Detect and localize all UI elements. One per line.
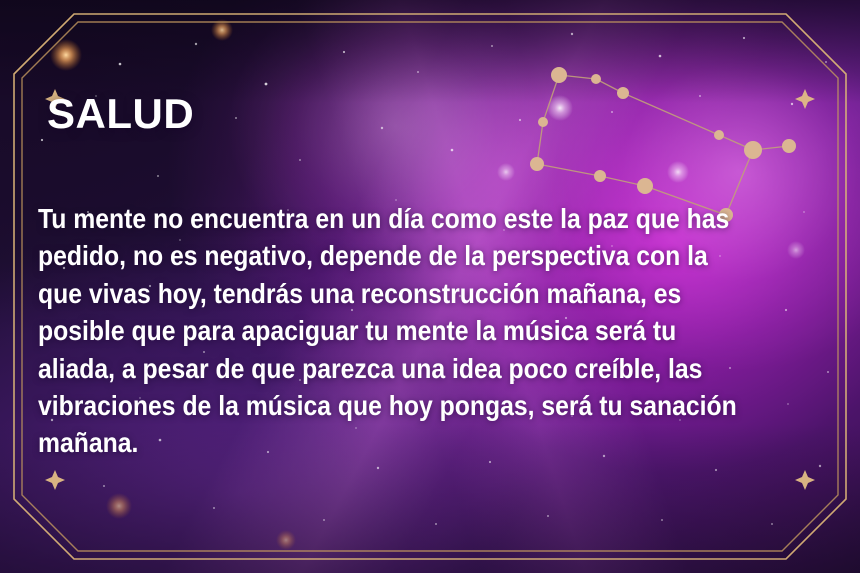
page-title: SALUD xyxy=(47,93,194,135)
horoscope-card: SALUD Tu mente no encuentra en un día co… xyxy=(0,0,860,573)
horoscope-body-text: Tu mente no encuentra en un día como est… xyxy=(38,200,749,462)
card-content: SALUD Tu mente no encuentra en un día co… xyxy=(0,0,860,573)
